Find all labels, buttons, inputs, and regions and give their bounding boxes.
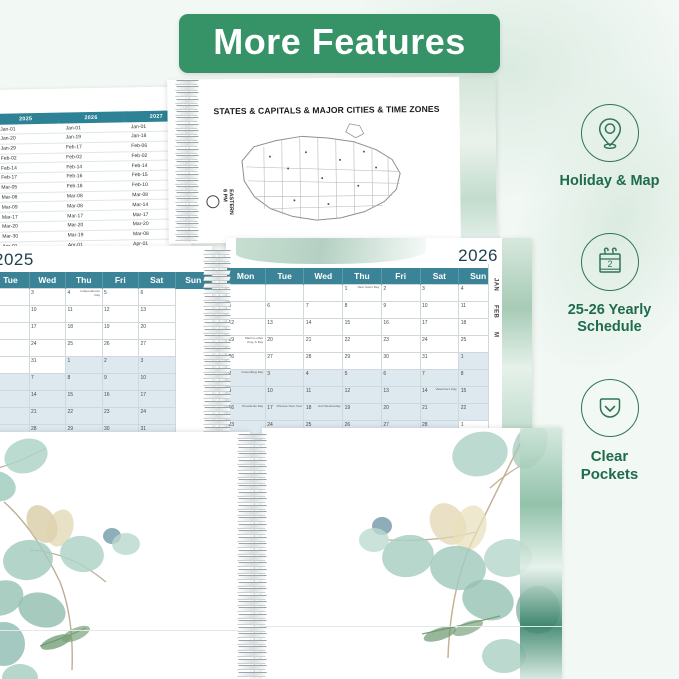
- spiral-ring: [175, 167, 198, 172]
- calendar-day-cell[interactable]: 20: [265, 336, 304, 353]
- calendar-day-number: 13: [383, 388, 389, 394]
- spiral-ring: [203, 309, 230, 314]
- calendar-day-cell[interactable]: 13: [265, 319, 304, 336]
- spiral-ring: [175, 86, 198, 91]
- spiral-ring: [175, 236, 198, 241]
- spiral-ring: [237, 492, 266, 497]
- calendar-holiday-label: Groundhog Day: [236, 371, 263, 375]
- spiral-ring: [237, 530, 266, 535]
- calendar-page-2025: 2025 TueWedThuFriSatSun 234Independence …: [0, 246, 212, 440]
- calendar-day-number: 1: [345, 286, 348, 292]
- calendar-day-cell[interactable]: 24: [139, 408, 176, 425]
- spiral-ring: [175, 198, 198, 203]
- calendar-day-cell[interactable]: 3: [265, 370, 304, 387]
- calendar-day-number: 11: [68, 307, 73, 313]
- feature-clear-pockets[interactable]: Clear Pockets: [540, 379, 679, 485]
- calendar-day-number: 10: [267, 388, 273, 394]
- spiral-ring: [203, 322, 230, 327]
- calendar-day-cell[interactable]: 20: [381, 404, 420, 421]
- spiral-ring: [237, 485, 266, 490]
- spiral-ring: [237, 434, 266, 439]
- calendar-day-cell[interactable]: 7: [29, 374, 66, 391]
- calendar-day-number: 7: [422, 371, 425, 377]
- calendar-day-number: 6: [141, 290, 144, 296]
- feature-label-holiday-map: Holiday & Map: [560, 173, 660, 191]
- spiral-ring: [237, 460, 266, 465]
- calendar-weekday-header: Fri: [102, 272, 139, 289]
- calendar-table-2025: TueWedThuFriSatSun 234Independence Day56…: [0, 272, 212, 440]
- calendar-day-cell[interactable]: 27: [139, 340, 176, 357]
- calendar-week-row: 910111213: [0, 306, 212, 323]
- calendar-day-cell[interactable]: 26: [227, 353, 266, 370]
- calendar-day-number: 8: [345, 303, 348, 309]
- calendar-day-cell[interactable]: 9: [0, 306, 29, 323]
- calendar-day-cell[interactable]: 5: [343, 370, 382, 387]
- calendar-day-number: 20: [383, 405, 389, 411]
- calendar-day-number: 29: [68, 426, 74, 432]
- month-rail-label: M: [493, 332, 499, 337]
- calendar-day-number: 19: [104, 324, 110, 330]
- calendar-day-number: 14: [422, 388, 428, 394]
- spiral-ring: [175, 111, 198, 116]
- calendar-day-cell[interactable]: 30: [381, 353, 420, 370]
- spiral-ring: [203, 348, 230, 353]
- calendar-day-number: 25: [306, 422, 312, 428]
- calendar-day-cell[interactable]: 9: [102, 374, 139, 391]
- calendar-day-number: 2: [104, 358, 107, 364]
- spiral-ring: [237, 505, 266, 510]
- spiral-ring: [237, 440, 266, 445]
- spiral-ring: [237, 543, 266, 548]
- spiral-ring: [175, 174, 198, 179]
- spiral-ring: [175, 124, 198, 129]
- calendar-day-number: 27: [141, 341, 147, 347]
- calendar-day-cell[interactable]: 6: [139, 289, 176, 306]
- calendar-week-row: 1New Year's Day234: [227, 285, 498, 302]
- calendar-day-cell[interactable]: 2: [381, 285, 420, 302]
- calendar-week-row: 2324252627: [0, 340, 212, 357]
- feature-label-clear-pockets: Clear Pockets: [581, 448, 639, 485]
- calendar-week-row: 12131415161718: [227, 319, 498, 336]
- calendar-day-cell[interactable]: 29: [343, 353, 382, 370]
- calendar-day-cell[interactable]: 6: [265, 302, 304, 319]
- spiral-ring: [203, 283, 230, 288]
- calendar-day-cell[interactable]: 13: [381, 387, 420, 404]
- spiral-ring: [237, 646, 266, 651]
- calendar-day-cell[interactable]: 9: [227, 387, 266, 404]
- calendar-day-cell[interactable]: 7: [420, 370, 459, 387]
- calendar-day-number: 17: [267, 405, 273, 411]
- spiral-ring: [203, 342, 230, 347]
- spiral-ring: [175, 186, 198, 191]
- calendar-day-number: 31: [31, 358, 37, 364]
- calendar-day-cell[interactable]: 10: [420, 302, 459, 319]
- map-page-leaf-border: [459, 76, 497, 240]
- calendar-day-number: 3: [141, 358, 144, 364]
- calendar-day-number: 15: [461, 388, 467, 394]
- calendar-day-cell[interactable]: 24: [29, 340, 66, 357]
- spiral-ring: [203, 315, 230, 320]
- month-rail-label: JAN: [493, 278, 499, 291]
- calendar-day-cell[interactable]: 1: [66, 357, 103, 374]
- calendar-day-number: 10: [31, 307, 37, 313]
- calendar-day-number: 8: [461, 371, 464, 377]
- calendar-icon: 2: [594, 246, 626, 278]
- calendar-day-cell[interactable]: 2: [0, 289, 29, 306]
- calendar-day-number: 18: [68, 324, 74, 330]
- calendar-day-number: 26: [345, 422, 351, 428]
- calendar-day-number: 15: [345, 320, 351, 326]
- calendar-day-number: 30: [383, 354, 389, 360]
- pocket-chevron-icon: [594, 393, 626, 423]
- spiral-ring: [203, 361, 230, 366]
- calendar-day-cell[interactable]: 31: [29, 357, 66, 374]
- spiral-ring: [175, 217, 198, 222]
- spiral-ring: [175, 80, 198, 85]
- calendar-page-2026: 2026 MonTueWedThuFriSatSun 1New Year's D…: [226, 238, 532, 438]
- spiral-ring: [237, 659, 266, 664]
- calendar-day-number: 22: [68, 409, 74, 415]
- calendar-day-cell[interactable]: [227, 285, 266, 302]
- calendar-holiday-label: Ash Wednesday: [313, 405, 340, 409]
- calendar-day-number: 17: [31, 324, 37, 330]
- calendar-day-cell[interactable]: 14: [29, 391, 66, 408]
- calendar-week-row: 2627282930311: [227, 353, 498, 370]
- calendar-day-cell[interactable]: 16: [381, 319, 420, 336]
- calendar-holiday-label: New Year's Day: [352, 286, 379, 290]
- calendar-day-number: 9: [383, 303, 386, 309]
- calendar-day-number: 13: [267, 320, 273, 326]
- calendar-day-cell[interactable]: 16: [0, 323, 29, 340]
- calendar-weekday-header: Thu: [66, 272, 103, 289]
- spiral-ring: [237, 627, 266, 632]
- calendar-day-cell[interactable]: 12: [227, 319, 266, 336]
- calendar-day-cell[interactable]: 4: [304, 370, 343, 387]
- spiral-ring: [203, 250, 230, 255]
- feature-yearly-schedule[interactable]: 2 25-26 Yearly Schedule: [540, 233, 679, 337]
- calendar-day-cell[interactable]: 27: [265, 353, 304, 370]
- calendar-week-row: 1314151617: [0, 391, 212, 408]
- calendar-day-cell[interactable]: 22: [66, 408, 103, 425]
- calendar-day-number: 23: [104, 409, 110, 415]
- spiral-ring: [203, 394, 230, 399]
- calendar-holiday-label: Independence Day: [75, 290, 100, 297]
- calendar-day-number: 23: [383, 337, 389, 343]
- calendar-day-number: 3: [31, 290, 34, 296]
- spiral-ring: [203, 414, 230, 419]
- calendar-day-cell[interactable]: 23: [0, 340, 29, 357]
- calendar-day-cell[interactable]: 12: [102, 306, 139, 323]
- calendar-weekday-header: Tue: [265, 268, 304, 285]
- calendar-day-cell[interactable]: 21: [304, 336, 343, 353]
- calendar-day-number: 21: [31, 409, 37, 415]
- spiral-ring: [175, 192, 198, 197]
- calendar-day-cell[interactable]: 11: [304, 387, 343, 404]
- calendar-day-number: 28: [306, 354, 312, 360]
- calendar-day-cell[interactable]: 3: [29, 289, 66, 306]
- calendar-day-number: 24: [31, 341, 37, 347]
- spiral-ring: [203, 374, 230, 379]
- calendar-day-number: 25: [461, 337, 467, 343]
- spiral-ring: [203, 276, 230, 281]
- calendar-day-cell[interactable]: 2: [102, 357, 139, 374]
- spiral-ring: [203, 427, 230, 432]
- calendar-day-number: 31: [141, 426, 147, 432]
- calendar-day-cell[interactable]: 8: [66, 374, 103, 391]
- calendar-day-cell[interactable]: 4Independence Day: [66, 289, 103, 306]
- calendar-day-cell[interactable]: 1New Year's Day: [343, 285, 382, 302]
- feature-holiday-map[interactable]: Holiday & Map: [540, 104, 679, 191]
- calendar-day-number: 11: [461, 303, 466, 309]
- calendar-day-number: 14: [31, 392, 37, 398]
- spiral-ring: [237, 601, 266, 606]
- calendar-day-cell[interactable]: 13: [0, 391, 29, 408]
- calendar-day-cell[interactable]: 6: [0, 374, 29, 391]
- calendar-day-cell[interactable]: 19: [102, 323, 139, 340]
- spiral-ring: [237, 511, 266, 516]
- spiral-ring: [203, 335, 230, 340]
- calendar-day-number: 9: [104, 375, 107, 381]
- calendar-day-cell[interactable]: 21: [420, 404, 459, 421]
- calendar-day-cell[interactable]: 21: [29, 408, 66, 425]
- spiral-ring: [237, 466, 266, 471]
- eucalyptus-art-left: [0, 432, 250, 679]
- calendar-day-number: 20: [141, 324, 147, 330]
- calendar-day-cell[interactable]: [304, 285, 343, 302]
- spiral-ring: [175, 92, 198, 97]
- calendar-day-number: 12: [104, 307, 110, 313]
- calendar-day-cell[interactable]: 14: [304, 319, 343, 336]
- calendar-day-cell[interactable]: 18: [66, 323, 103, 340]
- calendar-week-row: 2Groundhog Day345678: [227, 370, 498, 387]
- holiday-dates-table: 202520262027 Jan-01Jan-01Jan-01Jan-20Jan…: [0, 110, 192, 250]
- calendar-day-cell[interactable]: 5: [102, 289, 139, 306]
- spiral-ring: [175, 161, 198, 166]
- calendar-day-number: 3: [422, 286, 425, 292]
- calendar-day-number: 1: [461, 422, 464, 428]
- spiral-ring: [175, 230, 198, 235]
- calendar-icon-number: 2: [607, 259, 612, 269]
- calendar-day-cell[interactable]: 28: [304, 353, 343, 370]
- calendar-day-number: 5: [104, 290, 107, 296]
- calendar-day-cell[interactable]: 20: [139, 323, 176, 340]
- calendar-weekday-header: Thu: [343, 268, 382, 285]
- spiral-ring: [237, 524, 266, 529]
- spiral-ring: [203, 381, 230, 386]
- calendar-day-number: 27: [383, 422, 389, 428]
- calendar-day-cell[interactable]: 3: [420, 285, 459, 302]
- calendar-day-cell[interactable]: 23: [381, 336, 420, 353]
- spiral-ring: [237, 640, 266, 645]
- calendar-day-cell[interactable]: 19Martin Luther King Jr Day: [227, 336, 266, 353]
- spiral-ring: [203, 270, 230, 275]
- calendar-day-number: 22: [345, 337, 351, 343]
- calendar-day-cell[interactable]: 15: [66, 391, 103, 408]
- spiral-ring: [203, 296, 230, 301]
- calendar-day-cell[interactable]: 16: [102, 391, 139, 408]
- notebook-page-left: [0, 432, 250, 679]
- calendar-day-cell[interactable]: 10: [29, 306, 66, 323]
- map-pin-icon: [595, 116, 625, 150]
- month-rail-label: FEB: [493, 305, 499, 318]
- calendar-table-2026: MonTueWedThuFriSatSun 1New Year's Day234…: [226, 268, 498, 438]
- calendar-day-number: 12: [345, 388, 351, 394]
- eucalyptus-art-right: [262, 428, 562, 679]
- calendar-day-number: 21: [306, 337, 312, 343]
- calendar-day-cell[interactable]: 12: [343, 387, 382, 404]
- calendar-day-number: 30: [104, 426, 110, 432]
- calendar-week-row: 1617181920: [0, 323, 212, 340]
- calendar-day-cell[interactable]: 15: [343, 319, 382, 336]
- spiral-ring: [203, 407, 230, 412]
- calendar-day-number: 4: [461, 286, 464, 292]
- spiral-ring: [237, 633, 266, 638]
- feature-label-yearly-schedule: 25-26 Yearly Schedule: [568, 302, 652, 337]
- calendar-day-cell[interactable]: 23: [102, 408, 139, 425]
- calendar-day-number: 28: [31, 426, 37, 432]
- calendar-day-cell[interactable]: 8: [343, 302, 382, 319]
- calendar-day-cell[interactable]: 11: [66, 306, 103, 323]
- spiral-ring: [237, 582, 266, 587]
- spiral-ring: [175, 155, 198, 160]
- calendar-day-number: 24: [422, 337, 428, 343]
- spiral-ring: [203, 329, 230, 334]
- calendar-day-number: 7: [31, 375, 34, 381]
- calendar-day-number: 25: [68, 341, 74, 347]
- calendar-week-row: 678910: [0, 374, 212, 391]
- calendar-day-cell[interactable]: 18Ash Wednesday: [304, 404, 343, 421]
- spiral-ring: [237, 665, 266, 670]
- calendar-day-cell[interactable]: [265, 285, 304, 302]
- calendar-day-number: 14: [306, 320, 312, 326]
- calendar-day-cell[interactable]: 22: [343, 336, 382, 353]
- calendar-page-leaf-border: [502, 238, 532, 438]
- calendar-day-cell[interactable]: 31: [420, 353, 459, 370]
- month-rail: JANFEBM: [488, 264, 502, 438]
- calendar-day-number: 26: [104, 341, 110, 347]
- calendar-day-cell[interactable]: 10: [139, 374, 176, 391]
- calendar-day-number: 19: [345, 405, 351, 411]
- calendar-day-cell[interactable]: 17: [29, 323, 66, 340]
- calendar-weekday-header: Wed: [304, 268, 343, 285]
- pocket-icon-circle: [581, 379, 639, 437]
- calendar-day-cell[interactable]: 3: [139, 357, 176, 374]
- spiral-ring: [237, 620, 266, 625]
- calendar-day-number: 8: [68, 375, 71, 381]
- calendar-day-number: 1: [68, 358, 71, 364]
- calendar-week-row: 16Presidents Day17Chinese New Year18Ash …: [227, 404, 498, 421]
- calendar-day-number: 16: [104, 392, 110, 398]
- spiral-ring: [175, 223, 198, 228]
- spiral-ring: [237, 652, 266, 657]
- timezone-marker: EASTERN 6 PM: [206, 189, 234, 215]
- spiral-ring: [237, 556, 266, 561]
- calendar-day-cell[interactable]: 20: [0, 408, 29, 425]
- calendar-day-cell[interactable]: 10: [265, 387, 304, 404]
- calendar-day-cell[interactable]: 9: [381, 302, 420, 319]
- timezone-circle-icon: [206, 196, 219, 209]
- calendar-day-cell[interactable]: 17: [139, 391, 176, 408]
- calendar-day-number: 7: [306, 303, 309, 309]
- feature-callouts: Holiday & Map 2 25-26 Yearly Schedule Cl…: [540, 104, 679, 624]
- spiral-ring: [203, 401, 230, 406]
- calendar-day-number: 27: [267, 354, 273, 360]
- calendar-year-2025: 2025: [0, 250, 34, 270]
- calendar-day-number: 10: [422, 303, 428, 309]
- spiral-ring: [175, 136, 198, 141]
- calendar-day-cell[interactable]: 30: [0, 357, 29, 374]
- calendar-day-number: 4: [68, 290, 71, 296]
- spiral-ring: [203, 263, 230, 268]
- spiral-ring: [175, 149, 198, 154]
- calendar-day-number: 10: [141, 375, 147, 381]
- calendar-day-cell[interactable]: 17Chinese New Year: [265, 404, 304, 421]
- calendar-day-cell[interactable]: 5: [227, 302, 266, 319]
- calendar-day-cell[interactable]: 17: [420, 319, 459, 336]
- calendar-day-cell[interactable]: 25: [66, 340, 103, 357]
- calendar-day-cell[interactable]: 7: [304, 302, 343, 319]
- calendar-holiday-label: Martin Luther King Jr Day: [236, 337, 263, 344]
- calendar-week-row: 567891011: [227, 302, 498, 319]
- spiral-ring: [237, 517, 266, 522]
- calendar-year-2026: 2026: [458, 246, 498, 266]
- calendar-day-cell[interactable]: 19: [343, 404, 382, 421]
- spiral-ring: [175, 117, 198, 122]
- states-map-page: STATES & CAPITALS & MAJOR CITIES & TIME …: [167, 76, 497, 243]
- calendar-day-number: 4: [306, 371, 309, 377]
- spiral-ring: [203, 368, 230, 373]
- calendar-day-number: 28: [422, 422, 428, 428]
- calendar-week-row: 3031123: [0, 357, 212, 374]
- header-banner: More Features: [179, 14, 500, 73]
- spiral-ring: [237, 588, 266, 593]
- calendar-day-number: 21: [422, 405, 428, 411]
- spiral-ring: [203, 257, 230, 262]
- calendar-holiday-label: Presidents Day: [236, 405, 263, 409]
- spiral-binding-calendar: [204, 250, 230, 440]
- calendar-week-row: 91011121314Valentine's Day15: [227, 387, 498, 404]
- calendar-weekday-header: Tue: [0, 272, 29, 289]
- calendar-day-cell[interactable]: 26: [102, 340, 139, 357]
- map-pin-icon-circle: [581, 104, 639, 162]
- calendar-day-number: 29: [345, 354, 351, 360]
- calendar-day-number: 18: [306, 405, 312, 411]
- spiral-ring: [237, 569, 266, 574]
- calendar-day-cell[interactable]: 6: [381, 370, 420, 387]
- calendar-day-cell[interactable]: 14Valentine's Day: [420, 387, 459, 404]
- usa-map-graphic: ..: [224, 115, 435, 237]
- notebook-page-right: [262, 428, 562, 679]
- calendar-day-cell[interactable]: 2Groundhog Day: [227, 370, 266, 387]
- calendar-day-number: 17: [141, 392, 147, 398]
- calendar-leaf-decoration: [236, 238, 426, 264]
- spiral-ring: [237, 575, 266, 580]
- calendar-icon-circle: 2: [581, 233, 639, 291]
- calendar-day-cell[interactable]: 24: [420, 336, 459, 353]
- calendar-week-row: 2021222324: [0, 408, 212, 425]
- calendar-day-cell[interactable]: 16Presidents Day: [227, 404, 266, 421]
- calendar-weekday-header: Fri: [381, 268, 420, 285]
- spiral-ring: [203, 387, 230, 392]
- spiral-binding-map: [176, 80, 198, 242]
- spiral-ring: [237, 453, 266, 458]
- calendar-weekday-header: Wed: [29, 272, 66, 289]
- holiday-dates-sheet: 202520262027 Jan-01Jan-01Jan-01Jan-20Jan…: [0, 86, 192, 250]
- spiral-ring: [237, 498, 266, 503]
- calendar-day-cell[interactable]: 13: [139, 306, 176, 323]
- spiral-ring: [175, 211, 198, 216]
- calendar-holiday-label: Chinese New Year: [275, 405, 302, 409]
